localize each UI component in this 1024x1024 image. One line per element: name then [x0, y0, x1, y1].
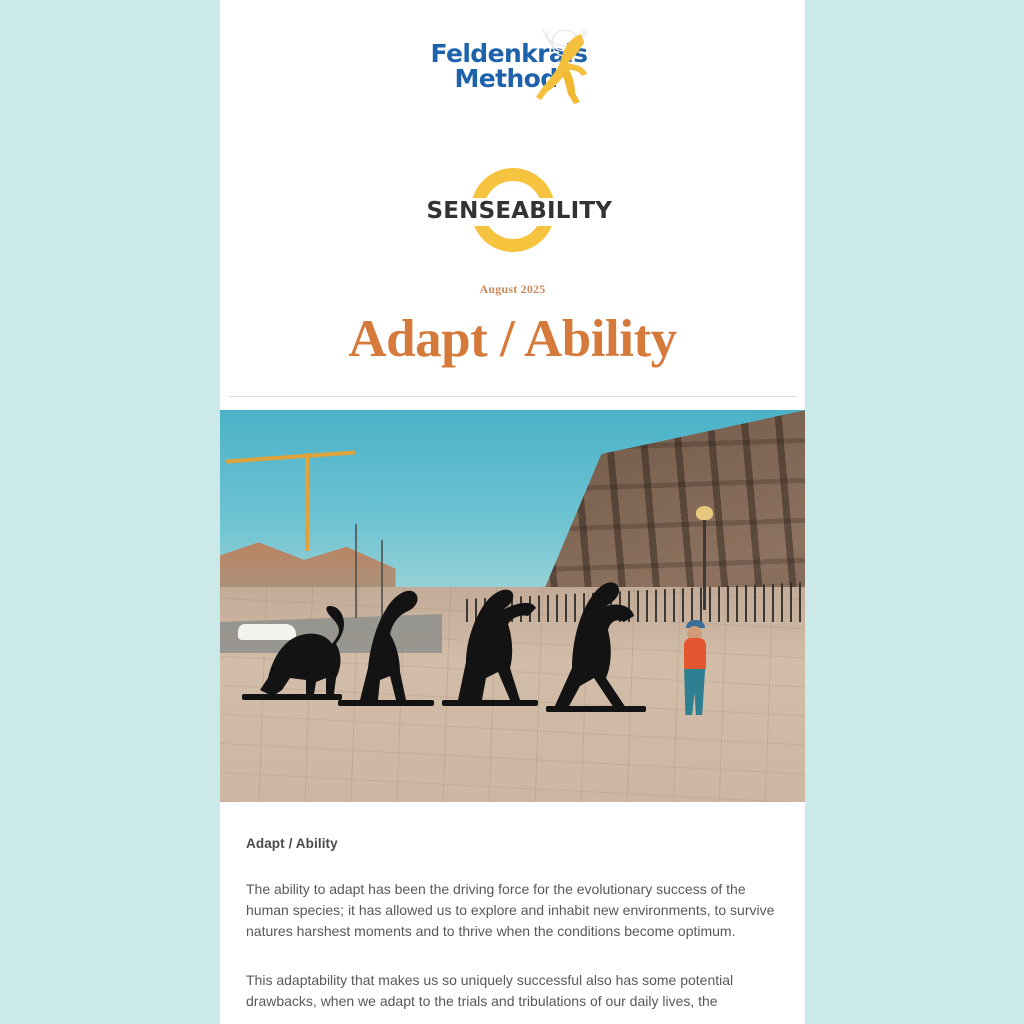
article-heading: Adapt / Ability — [246, 836, 779, 851]
article-paragraph-1: The ability to adapt has been the drivin… — [246, 879, 779, 942]
newsletter-card: Feldenkrais Method® SENSEABILI — [220, 0, 805, 1024]
header-logos: Feldenkrais Method® SENSEABILI — [220, 30, 805, 254]
masthead-divider — [229, 396, 796, 397]
hero-man-orange-shirt — [684, 638, 706, 671]
senseability-logo[interactable]: SENSEABILITY — [427, 168, 599, 254]
article-paragraph-2: This adaptability that makes us so uniqu… — [246, 970, 779, 1012]
issue-date: August 2025 — [220, 282, 805, 297]
page-title: Adapt / Ability — [220, 310, 805, 368]
senseability-wordmark: SENSEABILITY — [427, 198, 599, 226]
feldenkrais-method-logo[interactable]: Feldenkrais Method® — [427, 30, 599, 112]
hero-image — [220, 410, 805, 802]
feldenkrais-stretching-figure-icon — [535, 30, 597, 112]
newsletter-page: Feldenkrais Method® SENSEABILI — [0, 0, 1024, 1024]
evolution-sculpture-silhouettes — [220, 410, 805, 802]
article-body: Adapt / Ability The ability to adapt has… — [220, 802, 805, 1012]
